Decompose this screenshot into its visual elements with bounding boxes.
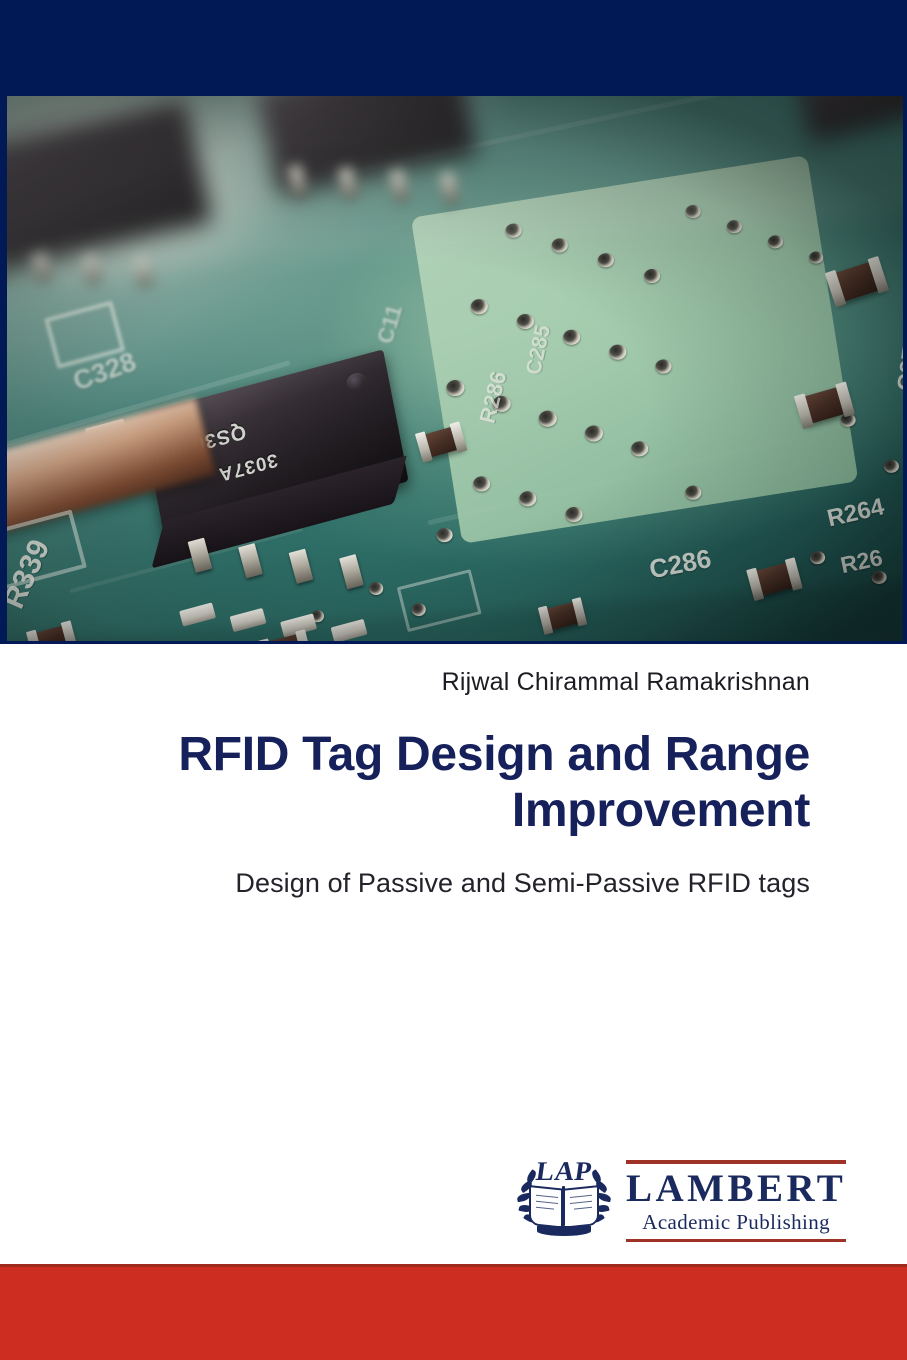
- logo-rule-top: [626, 1160, 846, 1164]
- book-title-line1: RFID Tag Design and Range: [178, 728, 810, 781]
- publisher-name: LAMBERT: [626, 1169, 846, 1210]
- cover-photo-frame: C328 R339 C286 R264 R26 C27 R286 C285 C1…: [0, 92, 907, 644]
- solder-pad: [179, 603, 216, 627]
- book-title: RFID Tag Design and Range Improvement: [0, 727, 907, 838]
- silkscreen-label-c27: C27: [893, 345, 903, 392]
- pcb-via: [810, 551, 826, 565]
- silkscreen-label-c286: C286: [647, 543, 714, 585]
- book-cover: C328 R339 C286 R264 R26 C27 R286 C285 C1…: [0, 0, 907, 1360]
- book-title-line2: Improvement: [512, 784, 810, 837]
- logo-rule-bottom: [626, 1239, 846, 1242]
- smd-resistor: [29, 624, 76, 641]
- pcb-substrate: C328 R339 C286 R264 R26 C27 R286 C285 C1…: [7, 96, 903, 641]
- publisher-tagline: Academic Publishing: [626, 1211, 846, 1234]
- book-subtitle: Design of Passive and Semi-Passive RFID …: [0, 868, 907, 899]
- chip-pin: [289, 549, 314, 584]
- lambert-wordmark: LAMBERT Academic Publishing: [626, 1156, 846, 1246]
- chip-pin: [340, 555, 365, 590]
- publisher-logo: LAP: [516, 1152, 828, 1250]
- cover-text-block: Rijwal Chirammal Ramakrishnan RFID Tag D…: [0, 644, 907, 899]
- top-navy-band: [0, 0, 907, 96]
- pcb-via: [884, 460, 900, 474]
- circuit-board-macro-photo: C328 R339 C286 R264 R26 C27 R286 C285 C1…: [7, 96, 903, 641]
- smd-resistor: [828, 260, 887, 305]
- chip-pin: [238, 543, 263, 578]
- silkscreen-label-r264: R264: [825, 493, 887, 533]
- lap-book-icon: LAP: [516, 1155, 612, 1247]
- pcb-via: [436, 528, 453, 543]
- pcb-via: [369, 582, 384, 596]
- bottom-red-band: [0, 1264, 907, 1360]
- author-name: Rijwal Chirammal Ramakrishnan: [0, 668, 907, 697]
- open-book-icon: [529, 1187, 599, 1229]
